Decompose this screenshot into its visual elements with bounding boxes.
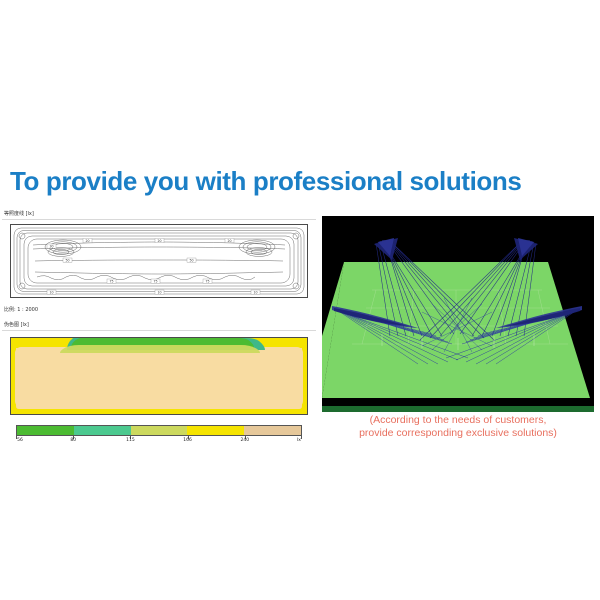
- svg-text:20: 20: [157, 239, 161, 243]
- false-color-chart-label: 伪色图 [lx]: [2, 321, 316, 329]
- svg-text:20: 20: [227, 239, 231, 243]
- svg-text:10: 10: [253, 290, 257, 294]
- false-color-svg: [11, 338, 307, 414]
- divider-2: [2, 330, 316, 331]
- caption-line-2: provide corresponding exclusive solution…: [322, 427, 594, 440]
- svg-text:50: 50: [65, 258, 69, 262]
- color-segment-1: [17, 426, 74, 435]
- color-bar-tick-4: 240: [241, 438, 250, 443]
- color-bar-unit-label: lx: [297, 438, 301, 443]
- 3d-lighting-render-svg: [322, 216, 594, 412]
- color-segment-5: [244, 426, 301, 435]
- isolux-contour-chart: 20 20 20 30 50 50 75 75 75 10 10 10: [2, 222, 316, 302]
- svg-text:50: 50: [189, 258, 193, 262]
- isolux-chart-label: 等照度线 [lx]: [2, 210, 316, 218]
- color-bar-tick-2: 115: [126, 438, 135, 443]
- svg-text:75: 75: [109, 279, 113, 283]
- page-title: To provide you with professional solutio…: [10, 166, 590, 197]
- color-bar-tick-3: 166: [183, 438, 192, 443]
- svg-text:75: 75: [205, 279, 209, 283]
- lighting-calculation-column: 等照度线 [lx]: [2, 210, 316, 446]
- color-segment-3: [131, 426, 188, 435]
- isolux-contour-svg: 20 20 20 30 50 50 75 75 75 10 10 10: [11, 225, 307, 297]
- color-segment-2: [74, 426, 131, 435]
- svg-text:10: 10: [49, 290, 53, 294]
- svg-text:75: 75: [153, 279, 157, 283]
- color-bar-legend: 56 80 115 166 240 lx: [2, 425, 316, 451]
- slide-root: To provide you with professional solutio…: [0, 0, 600, 600]
- false-color-chart: [2, 335, 316, 423]
- svg-text:10: 10: [157, 290, 161, 294]
- color-segment-4: [187, 426, 244, 435]
- svg-text:30: 30: [49, 244, 53, 248]
- svg-text:20: 20: [85, 239, 89, 243]
- divider: [2, 219, 316, 220]
- color-bar-labels: 56 80 115 166 240 lx: [16, 438, 302, 448]
- caption-line-1: (According to the needs of customers,: [322, 414, 594, 427]
- false-color-plot-area: [10, 337, 308, 415]
- isolux-scale-text: 比例: 1 : 2000: [2, 306, 316, 313]
- color-bar-tick-1: 80: [70, 438, 76, 443]
- color-bar: [16, 425, 302, 436]
- color-bar-tick-0: 56: [17, 438, 23, 443]
- 3d-lighting-render-panel: [322, 216, 594, 412]
- render-caption: (According to the needs of customers, pr…: [322, 414, 594, 440]
- isolux-plot-area: 20 20 20 30 50 50 75 75 75 10 10 10: [10, 224, 308, 298]
